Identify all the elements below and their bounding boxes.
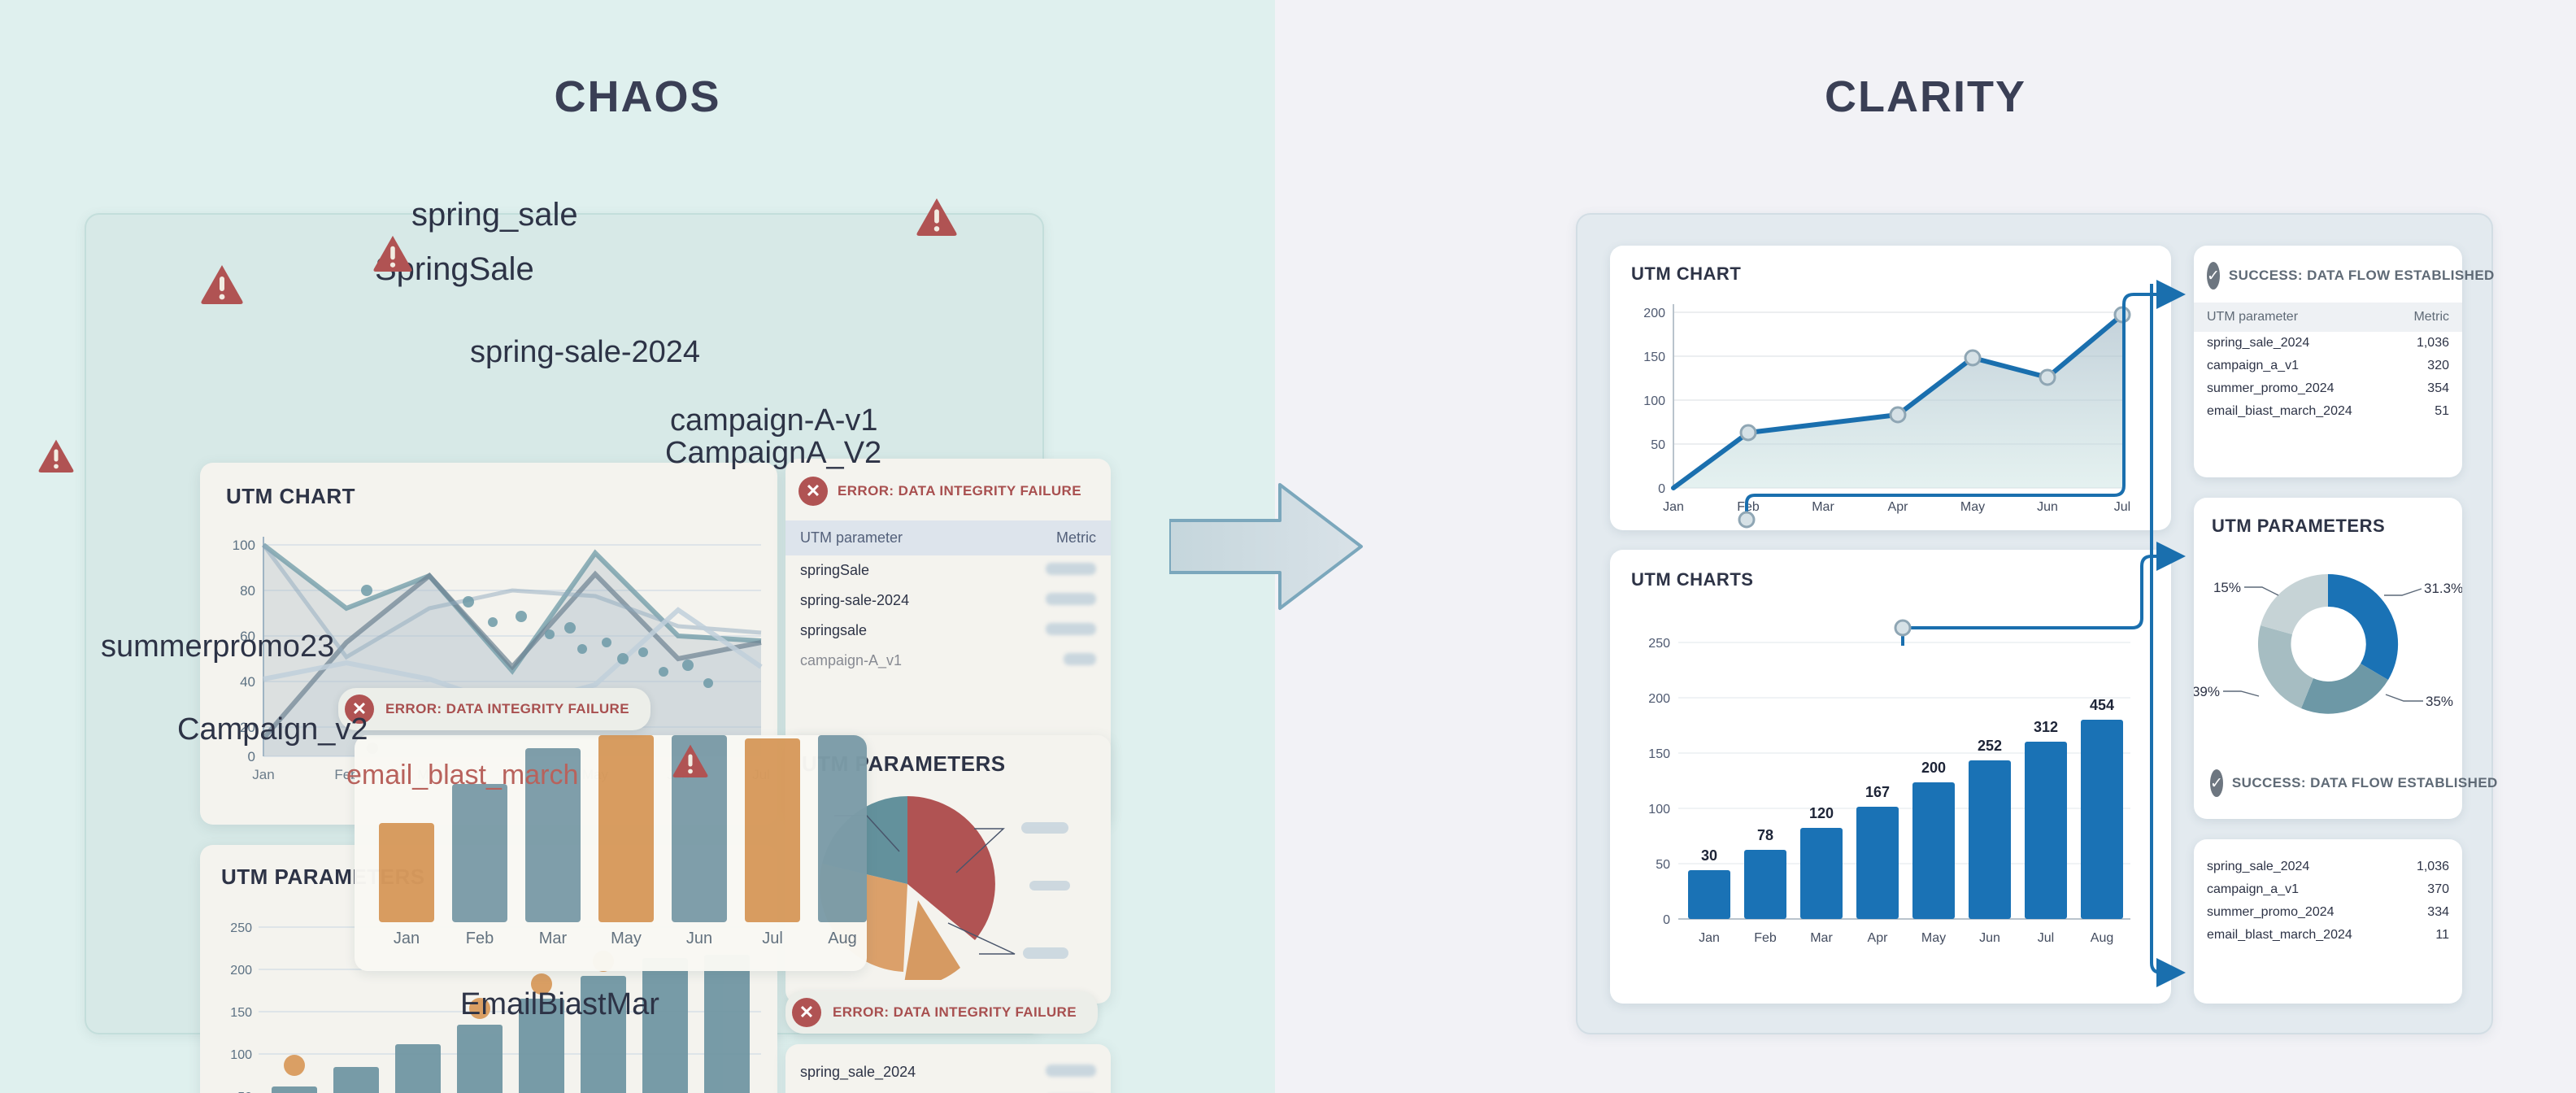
table-row[interactable]: campaign-A_v1 — [785, 646, 1111, 676]
chaos-error-text-float-2: ERROR: DATA INTEGRITY FAILURE — [833, 1004, 1077, 1021]
table-row[interactable]: spring_sale_20241,036 — [2194, 332, 2462, 355]
svg-text:Feb: Feb — [466, 930, 494, 947]
clarity-row-param: email_blast_march_2024 — [2194, 924, 2394, 947]
check-circle-icon: ✓ — [2210, 769, 2223, 797]
clarity-table-2: spring_sale_20241,036 campaign_a_v1370 s… — [2194, 856, 2462, 947]
warning-triangle-icon — [37, 438, 75, 472]
chaos-ghost-label-2: spring-sale-2024 — [470, 335, 700, 370]
svg-text:0: 0 — [1663, 913, 1670, 927]
svg-text:50: 50 — [1656, 858, 1670, 872]
chaos-half: CHAOS UTM CHART 1008060 40200 — [0, 0, 1275, 1093]
svg-text:May: May — [611, 930, 642, 947]
chaos-ghost-label-4: CampaignA_V2 — [665, 436, 881, 471]
clarity-row-param: campaign_a_v1 — [2194, 355, 2391, 377]
clarity-success-banner-2: ✓ SUCCESS: DATA FLOW ESTABLISHED — [2194, 768, 2462, 797]
chaos-error-text-1: ERROR: DATA INTEGRITY FAILURE — [838, 483, 1081, 499]
error-x-icon: ✕ — [792, 998, 821, 1027]
chaos-dashboard-panel: UTM CHART 1008060 40200 — [85, 213, 1044, 1034]
table-row[interactable]: spring_sale_20241,036 — [2194, 856, 2462, 878]
clarity-heading: CLARITY — [1275, 72, 2576, 122]
chaos-error-pill-floating-2[interactable]: ✕ ERROR: DATA INTEGRITY FAILURE — [785, 991, 1098, 1034]
svg-text:120: 120 — [1809, 805, 1834, 821]
warning-triangle-icon — [372, 234, 413, 272]
svg-text:100: 100 — [233, 538, 255, 553]
svg-text:Feb: Feb — [1737, 500, 1760, 514]
clarity-donut-chart-svg: 31.3% 35% 39% 15% — [2194, 540, 2462, 768]
clarity-table-1: UTM parameter Metric spring_sale_20241,0… — [2194, 303, 2462, 423]
svg-text:Mar: Mar — [1810, 931, 1833, 945]
chaos-ghost-label-6: Campaign_v2 — [177, 712, 368, 747]
clarity-table-card-2[interactable]: spring_sale_20241,036 campaign_a_v1370 s… — [2194, 839, 2462, 1004]
svg-text:0: 0 — [1658, 482, 1665, 496]
svg-text:80: 80 — [240, 583, 255, 599]
svg-text:0: 0 — [248, 749, 255, 764]
donut-label-0: 31.3% — [2424, 581, 2462, 596]
svg-text:200: 200 — [230, 964, 252, 978]
clarity-table-card-1[interactable]: ✓ SUCCESS: DATA FLOW ESTABLISHED UTM par… — [2194, 246, 2462, 477]
svg-text:Aug: Aug — [2091, 931, 2113, 945]
svg-text:Mar: Mar — [539, 930, 568, 947]
svg-text:Feb: Feb — [1754, 931, 1777, 945]
svg-text:200: 200 — [1643, 307, 1665, 320]
chaos-row-param: springSale — [785, 555, 992, 586]
clarity-pie-card-title: UTM PARAMETERS — [2194, 498, 2462, 537]
svg-text:Apr: Apr — [1868, 931, 1889, 945]
donut-label-1: 35% — [2426, 694, 2453, 709]
clarity-row-metric: 370 — [2394, 878, 2462, 901]
svg-text:May: May — [1960, 500, 1985, 514]
svg-text:252: 252 — [1978, 738, 2002, 754]
clarity-row-metric: 334 — [2394, 901, 2462, 924]
clarity-row-param: spring_sale_2024 — [2194, 332, 2391, 355]
clarity-row-param: summer_promo_2024 — [2194, 901, 2394, 924]
svg-text:40: 40 — [240, 674, 255, 690]
clarity-row-param: email_biast_march_2024 — [2194, 400, 2391, 423]
chaos-row-metric — [992, 586, 1111, 616]
svg-text:150: 150 — [1648, 747, 1670, 761]
svg-text:Jul: Jul — [2038, 931, 2054, 945]
clarity-bar-chart-card[interactable]: UTM CHARTS 250200150 100500 — [1610, 550, 2171, 1004]
check-circle-icon: ✓ — [2207, 262, 2220, 290]
chaos-ghost-label-7: email_blast_march — [346, 760, 578, 791]
chaos-row-param: campaign-A_v1 — [785, 646, 992, 676]
svg-text:167: 167 — [1865, 784, 1890, 800]
chaos-ghost-label-8: EmailBiastMar — [460, 987, 659, 1022]
svg-text:Jul: Jul — [2114, 500, 2130, 514]
svg-text:Apr: Apr — [1888, 500, 1909, 514]
svg-text:Jul: Jul — [762, 930, 783, 947]
svg-text:Mar: Mar — [1812, 500, 1834, 514]
table-row[interactable]: spring-sale-2024 — [785, 586, 1111, 616]
svg-text:100: 100 — [1648, 803, 1670, 816]
clarity-line-chart-card[interactable]: UTM CHART 200150100 500 — [1610, 246, 2171, 530]
clarity-line-chart-svg: 200150100 500 JanFebMar AprMayJun Jul — [1610, 286, 2171, 530]
svg-text:150: 150 — [1643, 351, 1665, 364]
table-row[interactable]: campaign_a_v1 — [785, 1087, 1111, 1093]
svg-text:200: 200 — [1921, 760, 1946, 776]
svg-text:Jun: Jun — [2037, 500, 2058, 514]
svg-text:50: 50 — [1651, 438, 1665, 452]
clarity-row-metric: 51 — [2391, 400, 2462, 423]
warning-triangle-icon — [672, 743, 709, 777]
clarity-bar-chart-svg: 250200150 100500 3078120 167200252 31245… — [1610, 594, 2171, 1000]
table-row[interactable]: springSale — [785, 555, 1111, 586]
chaos-ghost-label-0: spring_sale — [411, 197, 578, 233]
svg-text:250: 250 — [1648, 637, 1670, 651]
clarity-row-metric: 1,036 — [2391, 332, 2462, 355]
donut-label-2: 39% — [2194, 684, 2220, 699]
clarity-success-banner-1: ✓ SUCCESS: DATA FLOW ESTABLISHED — [2194, 246, 2462, 303]
chaos-th-metric-1: Metric — [992, 520, 1111, 555]
svg-text:May: May — [1921, 931, 1946, 945]
chaos-ghost-label-3: campaign-A-v1 — [670, 403, 878, 438]
chaos-table-2: spring_sale_2024 campaign_a_v1 summer_pr… — [785, 1057, 1111, 1093]
clarity-row-metric: 1,036 — [2394, 856, 2462, 878]
clarity-dashboard-panel: UTM CHART 200150100 500 — [1576, 213, 2493, 1034]
chaos-row-metric — [992, 555, 1111, 586]
chaos-error-pill-floating[interactable]: ✕ ERROR: DATA INTEGRITY FAILURE — [338, 688, 651, 730]
table-row[interactable]: campaign_a_v1370 — [2194, 878, 2462, 901]
chaos-ghost-label-5: summerpromo23 — [101, 629, 334, 664]
svg-text:454: 454 — [2090, 697, 2114, 713]
svg-text:100: 100 — [1643, 394, 1665, 408]
chaos-th-param-1: UTM parameter — [785, 520, 992, 555]
svg-text:78: 78 — [1757, 827, 1773, 843]
transform-arrow-icon — [1169, 478, 1364, 615]
svg-text:100: 100 — [230, 1048, 252, 1062]
svg-text:150: 150 — [230, 1006, 252, 1020]
chaos-row-param: campaign_a_v1 — [785, 1087, 1016, 1093]
svg-text:Jan: Jan — [252, 767, 274, 782]
clarity-success-text-1: SUCCESS: DATA FLOW ESTABLISHED — [2229, 268, 2495, 284]
clarity-pie-card[interactable]: UTM PARAMETERS 31.3% 35% 39% 15% — [2194, 498, 2462, 819]
clarity-th-metric-1: Metric — [2391, 303, 2462, 332]
svg-text:250: 250 — [230, 921, 252, 935]
chaos-error-text-float: ERROR: DATA INTEGRITY FAILURE — [385, 701, 629, 717]
chaos-row-param: spring-sale-2024 — [785, 586, 992, 616]
clarity-bar-card-title: UTM CHARTS — [1610, 550, 2171, 590]
table-row[interactable]: summer_promo_2024354 — [2194, 377, 2462, 400]
table-row[interactable]: campaign_a_v1320 — [2194, 355, 2462, 377]
clarity-line-card-title: UTM CHART — [1610, 246, 2171, 285]
chaos-row-metric — [1016, 1057, 1111, 1087]
clarity-row-param: campaign_a_v1 — [2194, 878, 2394, 901]
svg-text:Jan: Jan — [1663, 500, 1684, 514]
table-row[interactable]: email_biast_march_202451 — [2194, 400, 2462, 423]
donut-label-3: 15% — [2213, 580, 2241, 595]
table-row[interactable]: springsale — [785, 616, 1111, 646]
chaos-row-metric — [1016, 1087, 1111, 1093]
chaos-table-card-2[interactable]: spring_sale_2024 campaign_a_v1 summer_pr… — [785, 1044, 1111, 1093]
chaos-heading: CHAOS — [0, 72, 1275, 122]
warning-triangle-icon — [916, 197, 958, 236]
chaos-row-metric — [992, 616, 1111, 646]
warning-triangle-icon — [200, 263, 244, 304]
svg-text:Jan: Jan — [1699, 931, 1720, 945]
svg-text:Jun: Jun — [1979, 931, 2000, 945]
chaos-row-param: springsale — [785, 616, 992, 646]
clarity-row-param: summer_promo_2024 — [2194, 377, 2391, 400]
svg-text:Jun: Jun — [686, 930, 712, 947]
svg-text:312: 312 — [2034, 719, 2058, 735]
table-row[interactable]: spring_sale_2024 — [785, 1057, 1111, 1087]
clarity-row-metric: 320 — [2391, 355, 2462, 377]
svg-text:30: 30 — [1701, 847, 1717, 864]
clarity-row-param: spring_sale_2024 — [2194, 856, 2394, 878]
svg-text:Jan: Jan — [394, 930, 420, 947]
clarity-row-metric: 11 — [2394, 924, 2462, 947]
chaos-table-1: UTM parameter Metric springSale spring-s… — [785, 520, 1111, 676]
svg-text:Aug: Aug — [828, 930, 857, 947]
table-row[interactable]: email_blast_march_202411 — [2194, 924, 2462, 947]
chaos-row-metric — [992, 646, 1111, 676]
clarity-success-text-2: SUCCESS: DATA FLOW ESTABLISHED — [2232, 775, 2498, 791]
error-x-icon: ✕ — [798, 477, 828, 506]
svg-text:200: 200 — [1648, 692, 1670, 706]
clarity-row-metric: 354 — [2391, 377, 2462, 400]
chaos-row-param: spring_sale_2024 — [785, 1057, 1016, 1087]
table-row[interactable]: summer_promo_2024334 — [2194, 901, 2462, 924]
clarity-th-param-1: UTM parameter — [2194, 303, 2391, 332]
